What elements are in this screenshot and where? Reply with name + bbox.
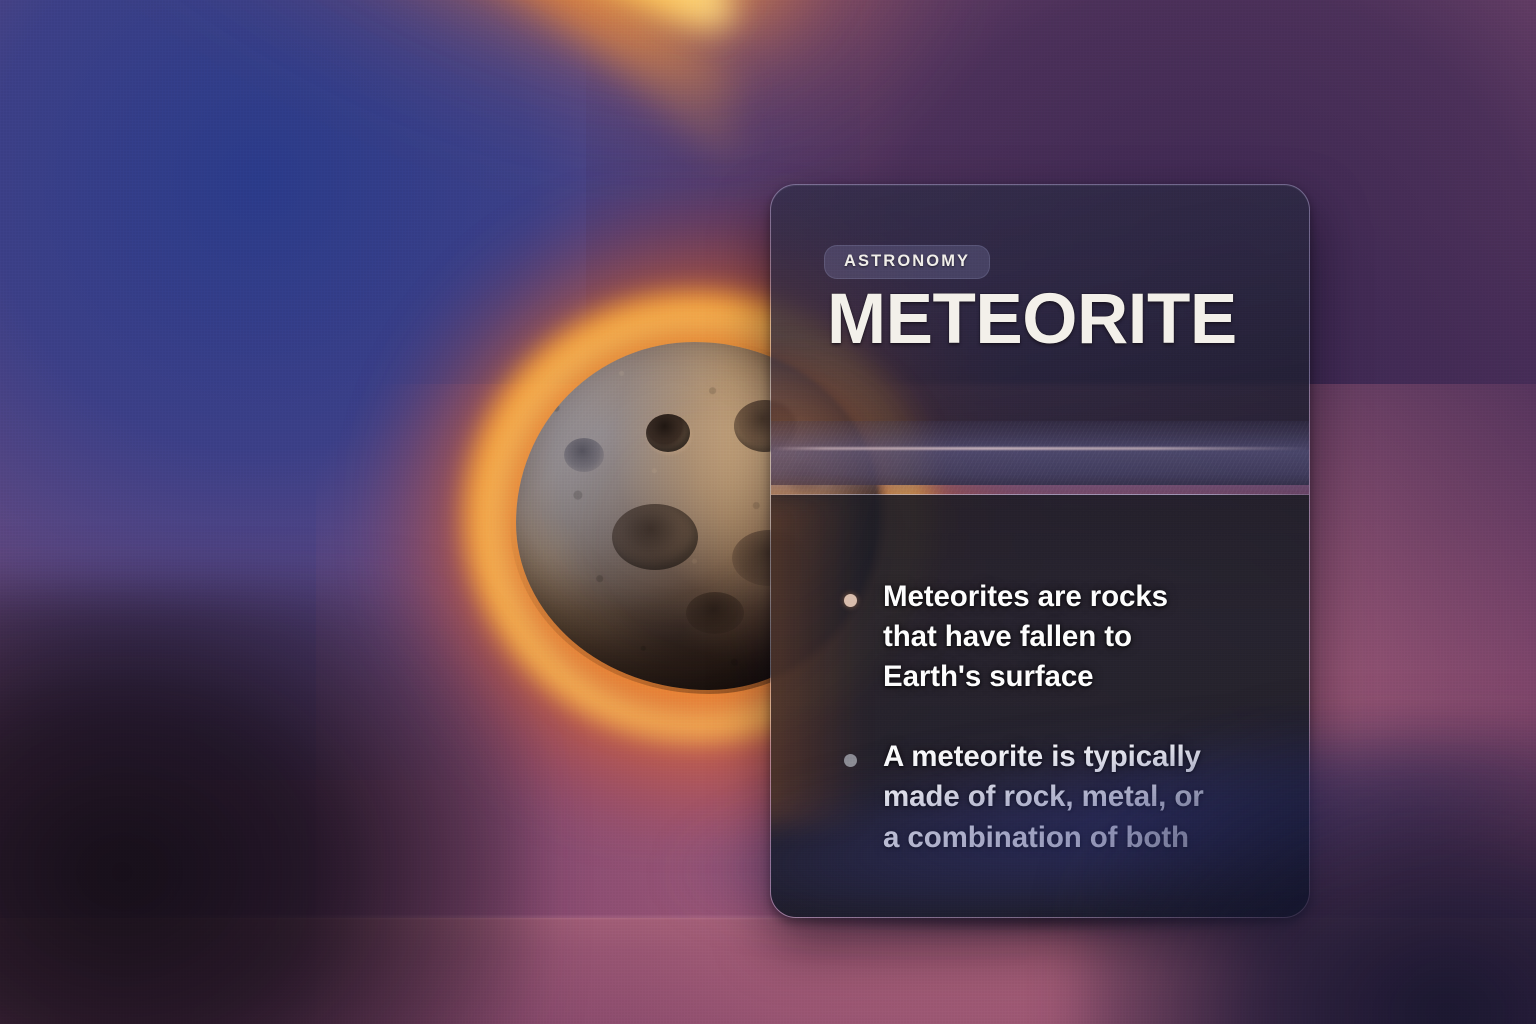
list-item: Meteorites are rocks that have fallen to… — [883, 577, 1273, 697]
foreground-dark-left — [0, 584, 540, 1024]
foreground-dark-right — [1076, 724, 1536, 1024]
card-title: METEORITE — [827, 283, 1237, 358]
fact-text: Meteorites are rocks that have fallen to… — [883, 577, 1228, 697]
crater-icon — [646, 414, 690, 452]
meteorite-info-scene: ASTRONOMY METEORITE Meteorites are rocks… — [0, 0, 1536, 1024]
crater-icon — [612, 504, 698, 570]
bullet-dot-icon — [844, 594, 857, 607]
crater-icon — [564, 438, 604, 472]
bullet-dot-icon — [844, 754, 857, 767]
category-badge: ASTRONOMY — [824, 245, 990, 279]
crater-icon — [686, 592, 744, 634]
